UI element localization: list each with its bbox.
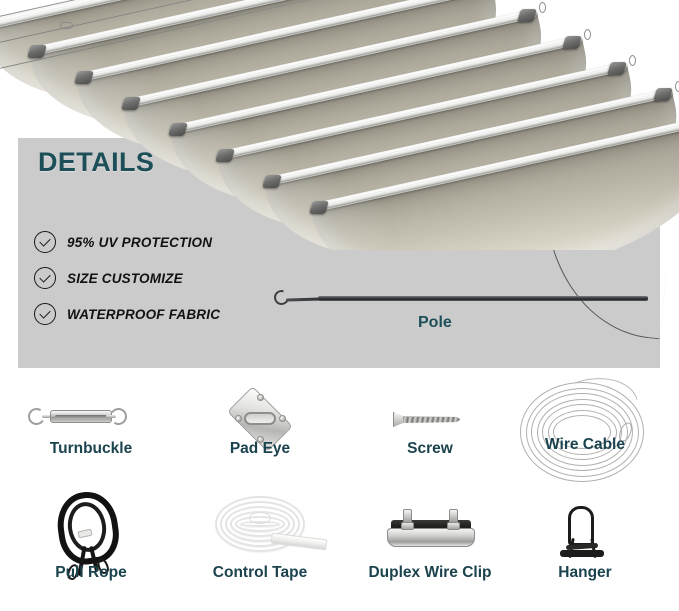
pole-label: Pole [418, 314, 452, 332]
feature-list: 95% UV PROTECTION SIZE CUSTOMIZE WATERPR… [34, 226, 220, 334]
feature-label: WATERPROOF FABRIC [67, 307, 220, 322]
hanger-icon [500, 490, 670, 570]
accessory-duplex-wire-clip: Duplex Wire Clip [345, 490, 515, 606]
accessory-turnbuckle: Turnbuckle [6, 378, 176, 494]
accessory-label: Screw [345, 440, 515, 458]
accessory-wire-cable: Wire Cable [500, 378, 670, 494]
check-circle-icon [34, 231, 56, 253]
accessory-screw: Screw [345, 378, 515, 494]
accessory-label: Pad Eye [175, 440, 345, 458]
accessory-label: Turnbuckle [6, 440, 176, 458]
check-circle-icon [34, 267, 56, 289]
pole-illustration: Pole [268, 278, 648, 348]
accessory-label: Duplex Wire Clip [345, 564, 515, 582]
canopy-guide-ring [539, 2, 546, 13]
feature-item: SIZE CUSTOMIZE [34, 262, 220, 294]
feature-label: 95% UV PROTECTION [67, 235, 212, 250]
accessory-label: Wire Cable [500, 436, 670, 454]
check-circle-icon [34, 303, 56, 325]
canopy-guide-ring [675, 81, 679, 92]
pole-shaft [318, 296, 648, 301]
duplex-wire-clip-icon [345, 490, 515, 570]
pull-rope-icon [6, 490, 176, 570]
accessory-label: Control Tape [175, 564, 345, 582]
canopy-turnbuckle [60, 22, 73, 29]
accessory-label: Pull Rope [6, 564, 176, 582]
accessory-label: Hanger [500, 564, 670, 582]
canopy-guide-ring [584, 29, 591, 40]
accessory-pad-eye: Pad Eye [175, 378, 345, 494]
accessory-pull-rope: Pull Rope [6, 490, 176, 606]
pole-taper [286, 297, 322, 301]
product-infographic: DETAILS 95% UV PROTECTION SIZE CUSTOMIZE… [0, 0, 679, 611]
accessory-grid: Turnbuckle Pad Eye Screw [0, 378, 679, 611]
accessory-control-tape: Control Tape [175, 490, 345, 606]
canopy-guide-ring [629, 55, 636, 66]
feature-item: WATERPROOF FABRIC [34, 298, 220, 330]
accessory-hanger: Hanger [500, 490, 670, 606]
control-tape-icon [175, 490, 345, 570]
feature-label: SIZE CUSTOMIZE [67, 271, 183, 286]
